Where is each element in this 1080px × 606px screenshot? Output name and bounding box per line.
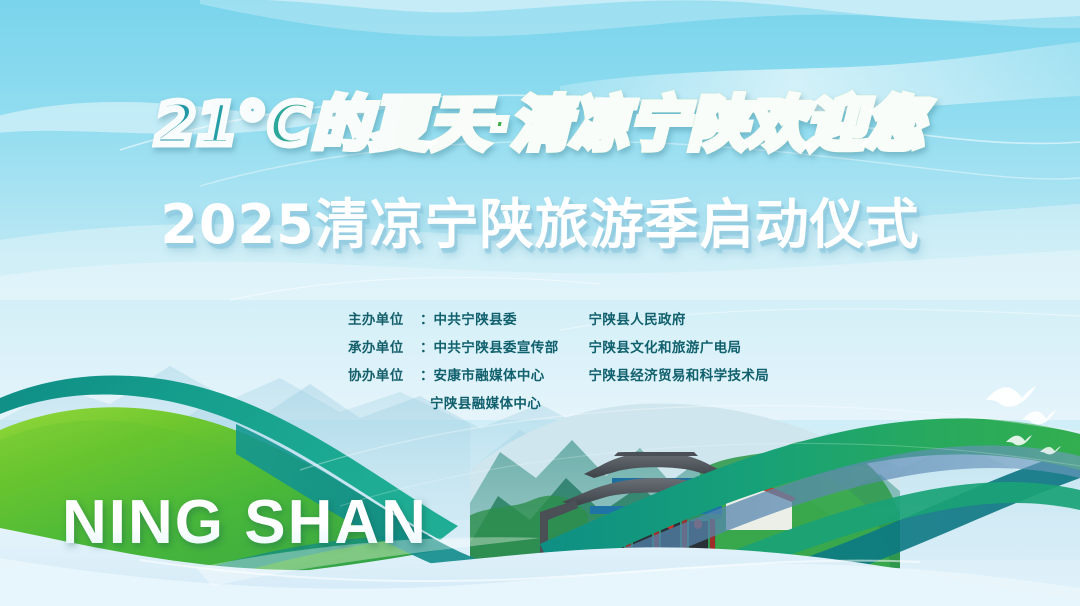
credit-colon: ：	[420, 308, 434, 328]
credit-row: 主办单位 ： 中共宁陕县委 宁陕县人民政府	[348, 308, 808, 336]
organizer-credits: 主办单位 ： 中共宁陕县委 宁陕县人民政府 承办单位 ： 中共宁陕县委宣传部 宁…	[348, 308, 808, 420]
credit-org-primary: 中共宁陕县委	[434, 308, 589, 328]
credit-org-primary: 宁陕县融媒体中心	[430, 392, 585, 412]
credit-org-primary: 中共宁陕县委宣传部	[434, 336, 589, 356]
credit-org-secondary: 宁陕县文化和旅游广电局	[589, 336, 809, 356]
credit-row: 承办单位 ： 中共宁陕县委宣传部 宁陕县文化和旅游广电局	[348, 336, 808, 364]
credit-label: 协办单位	[348, 364, 420, 384]
credit-org-secondary: 宁陕县人民政府	[589, 308, 809, 328]
poster-canvas: 21°C的夏天·清凉宁陕欢迎您 2025清凉宁陕旅游季启动仪式 主办单位 ： 中…	[0, 0, 1080, 606]
page-headline: 21°C的夏天·清凉宁陕欢迎您	[0, 88, 1080, 160]
credit-row: 协办单位 ： 安康市融媒体中心 宁陕县经济贸易和科学技术局	[348, 364, 808, 392]
credit-colon: ：	[420, 336, 434, 356]
credit-row: 宁陕县融媒体中心	[348, 392, 808, 420]
credit-label: 承办单位	[348, 336, 420, 356]
poster-content: 21°C的夏天·清凉宁陕欢迎您 2025清凉宁陕旅游季启动仪式 主办单位 ： 中…	[0, 0, 1080, 606]
ningshan-wordmark: NING SHAN	[62, 492, 428, 554]
credit-org-secondary: 宁陕县经济贸易和科学技术局	[589, 364, 809, 384]
page-subtitle: 2025清凉宁陕旅游季启动仪式	[0, 192, 1080, 258]
credit-org-primary: 安康市融媒体中心	[434, 364, 589, 384]
credit-label: 主办单位	[348, 308, 420, 328]
credit-colon: ：	[420, 364, 434, 384]
